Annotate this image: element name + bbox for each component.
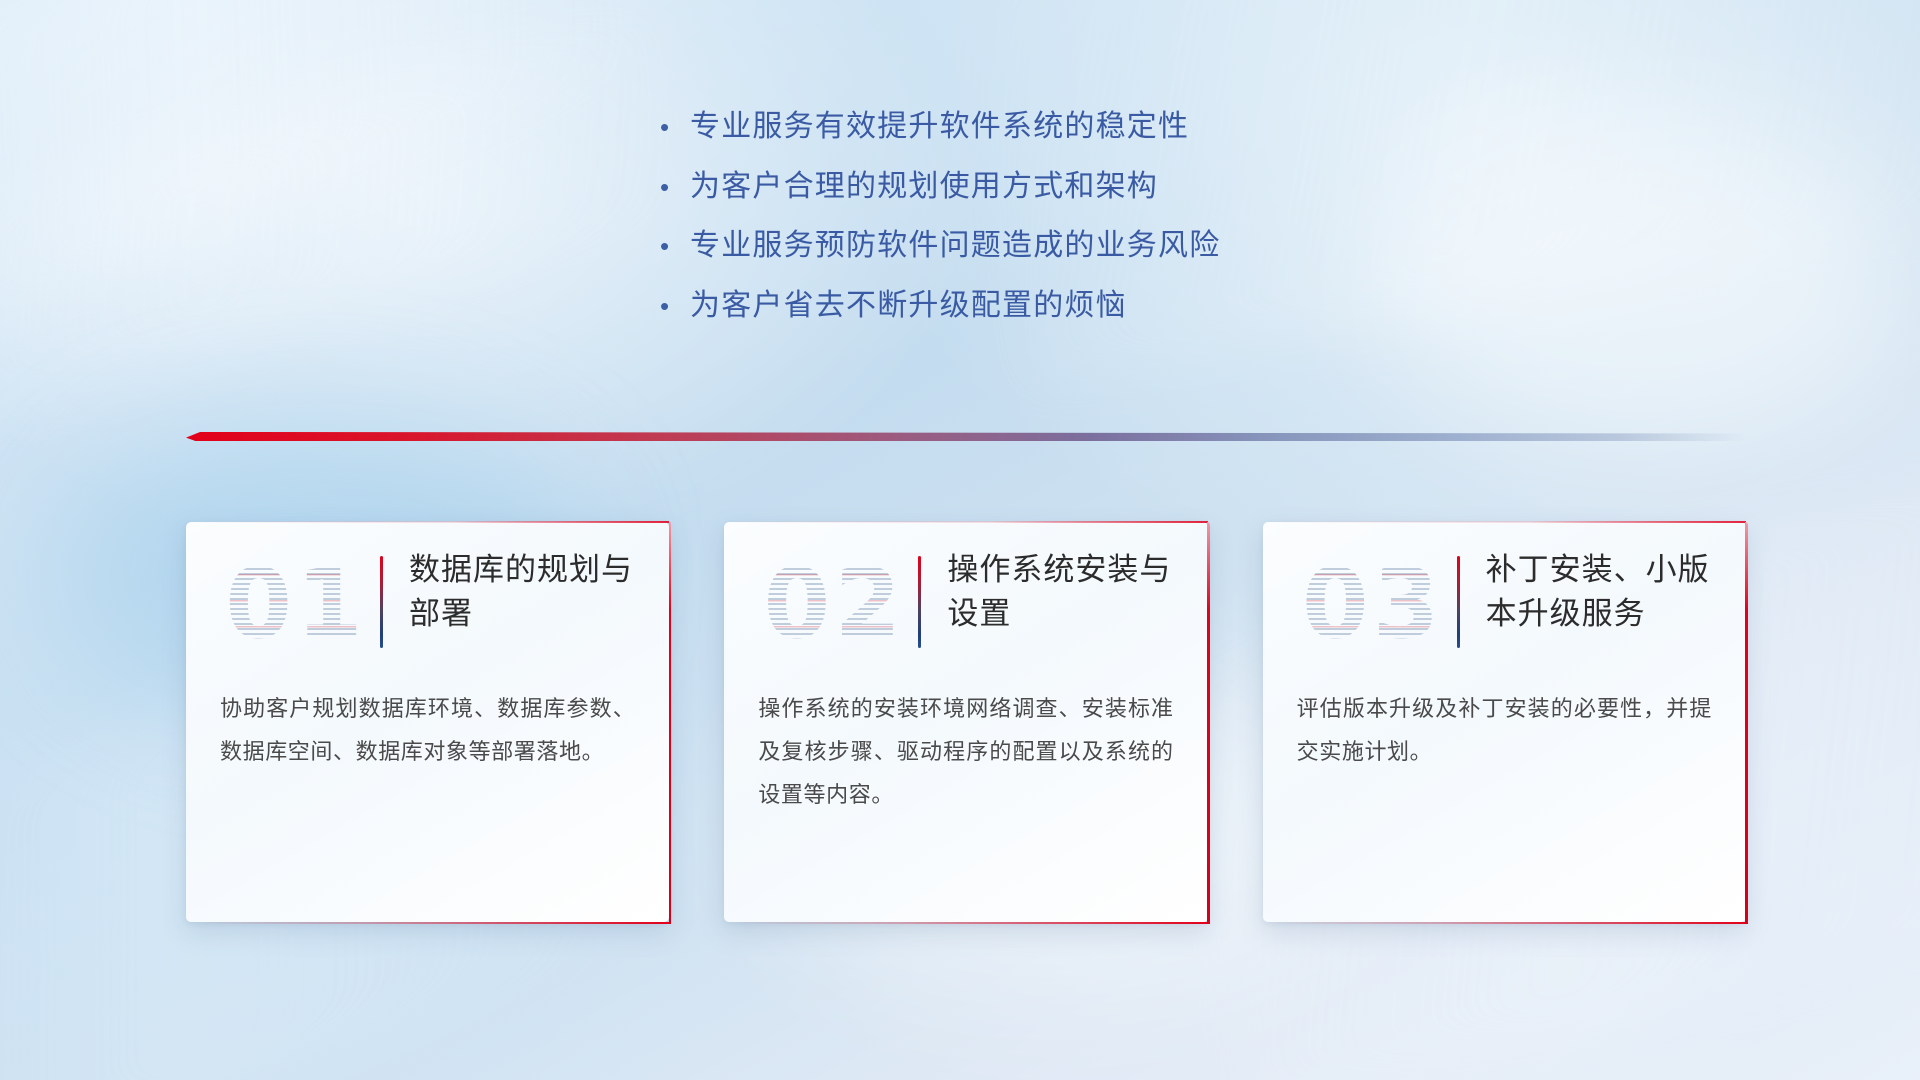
card-title: 操作系统安装与设置 [947,548,1197,636]
card-header: 03 03 补丁安装、小版本升级服务 [1263,522,1746,682]
card-number-watermark: 01 01 [212,548,380,660]
card-title: 数据库的规划与部署 [409,548,659,636]
card-header: 02 02 操作系统安装与设置 [724,522,1207,682]
benefits-bullet-list: • 专业服务有效提升软件系统的稳定性 • 为客户合理的规划使用方式和架构 • 专… [660,108,1420,346]
bullet-dot-icon: • [660,114,690,140]
light-streak-decoration [0,0,648,355]
service-card-03[interactable]: 03 03 补丁安装、小版本升级服务 评估版本升级及补丁安装的必要性，并提交实施… [1263,522,1746,922]
card-body-text: 评估版本升级及补丁安装的必要性，并提交实施计划。 [1263,682,1746,774]
card-bottom-accent [196,922,671,925]
list-item: • 专业服务有效提升软件系统的稳定性 [660,108,1420,146]
card-body-text: 协助客户规划数据库环境、数据库参数、数据库空间、数据库对象等部署落地。 [186,682,669,774]
card-body-text: 操作系统的安装环境网络调查、安装标准及复核步骤、驱动程序的配置以及系统的设置等内… [724,682,1207,817]
card-number-watermark: 03 03 [1289,548,1457,660]
card-number-tint: 01 [212,548,380,660]
card-number-tint: 03 [1289,548,1457,660]
background-glow [1380,120,1900,440]
card-number-tint: 02 [750,548,918,660]
card-number-watermark: 02 02 [750,548,918,660]
service-card-02[interactable]: 02 02 操作系统安装与设置 操作系统的安装环境网络调查、安装标准及复核步骤、… [724,522,1207,922]
bullet-dot-icon: • [660,233,690,259]
bullet-dot-icon: • [660,174,690,200]
list-item: • 为客户合理的规划使用方式和架构 [660,168,1420,206]
divider-bar [186,432,1746,441]
bullet-text: 为客户省去不断升级配置的烦恼 [690,287,1127,325]
light-streak-decoration [0,0,713,460]
bullet-text: 专业服务预防软件问题造成的业务风险 [690,227,1220,265]
bullet-dot-icon: • [660,293,690,319]
list-item: • 为客户省去不断升级配置的烦恼 [660,287,1420,325]
card-bottom-accent [734,922,1209,925]
service-card-01[interactable]: 01 01 数据库的规划与部署 协助客户规划数据库环境、数据库参数、数据库空间、… [186,522,669,922]
list-item: • 专业服务预防软件问题造成的业务风险 [660,227,1420,265]
card-title-rule [918,556,921,648]
card-bottom-accent [1273,922,1748,925]
card-title-rule [1457,556,1460,648]
slide-canvas: • 专业服务有效提升软件系统的稳定性 • 为客户合理的规划使用方式和架构 • 专… [0,0,1920,1080]
card-title-rule [380,556,383,648]
service-card-group: 01 01 数据库的规划与部署 协助客户规划数据库环境、数据库参数、数据库空间、… [186,522,1746,922]
card-title: 补丁安装、小版本升级服务 [1486,548,1736,636]
card-header: 01 01 数据库的规划与部署 [186,522,669,682]
bullet-text: 为客户合理的规划使用方式和架构 [690,168,1158,206]
bullet-text: 专业服务有效提升软件系统的稳定性 [690,108,1189,146]
section-divider [186,432,1746,441]
